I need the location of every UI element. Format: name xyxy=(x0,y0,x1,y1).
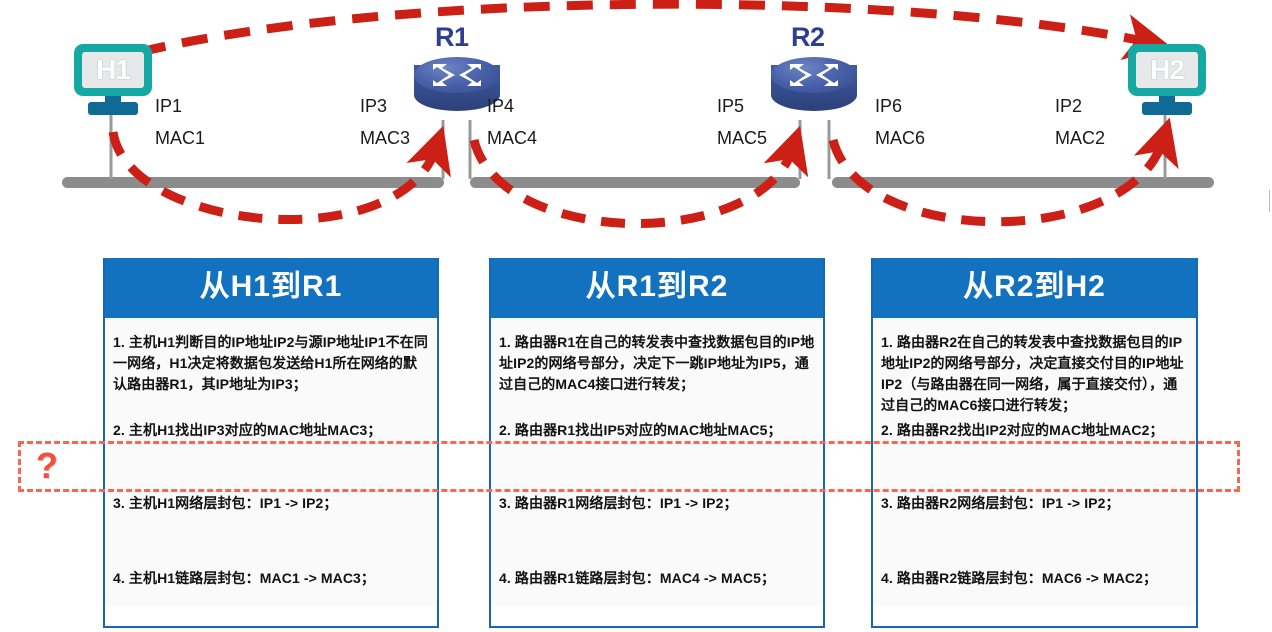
column-title: 从H1到R1 xyxy=(105,258,437,318)
column-body: 1. 路由器R1在自己的转发表中查找数据包目的IP地址IP2的网络号部分，决定下… xyxy=(491,318,823,606)
step-item: 3. 主机H1网络层封包：IP1 -> IP2； xyxy=(105,493,437,514)
step-item: 1. 路由器R2在自己的转发表中查找数据包目的IP地址IP2的网络号部分，决定直… xyxy=(873,332,1196,416)
step-item: 4. 主机H1链路层封包：MAC1 -> MAC3； xyxy=(105,568,437,589)
step-item: 2. 主机H1找出IP3对应的MAC地址MAC3； xyxy=(105,420,437,441)
right-edge-rule xyxy=(1269,190,1270,212)
column-title: 从R2到H2 xyxy=(873,258,1196,318)
explanation-columns: 从H1到R1 1. 主机H1判断目的IP地址IP2与源IP地址IP1不在同一网络… xyxy=(0,0,1272,632)
column-h1-to-r1: 从H1到R1 1. 主机H1判断目的IP地址IP2与源IP地址IP1不在同一网络… xyxy=(103,258,439,628)
diagram-root: H1 R1 R2 xyxy=(0,0,1272,632)
step-item: 3. 路由器R1网络层封包：IP1 -> IP2； xyxy=(491,493,823,514)
step-item: 1. 路由器R1在自己的转发表中查找数据包目的IP地址IP2的网络号部分，决定下… xyxy=(491,332,823,395)
column-r2-to-h2: 从R2到H2 1. 路由器R2在自己的转发表中查找数据包目的IP地址IP2的网络… xyxy=(871,258,1198,628)
column-body: 1. 主机H1判断目的IP地址IP2与源IP地址IP1不在同一网络，H1决定将数… xyxy=(105,318,437,606)
step-item: 2. 路由器R1找出IP5对应的MAC地址MAC5； xyxy=(491,420,823,441)
step-item: 4. 路由器R2链路层封包：MAC6 -> MAC2； xyxy=(873,568,1196,589)
column-title: 从R1到R2 xyxy=(491,258,823,318)
column-body: 1. 路由器R2在自己的转发表中查找数据包目的IP地址IP2的网络号部分，决定直… xyxy=(873,318,1196,606)
question-mark-icon: ? xyxy=(36,448,58,484)
step-item: 2. 路由器R2找出IP2对应的MAC地址MAC2； xyxy=(873,420,1196,441)
step-item: 3. 路由器R2网络层封包：IP1 -> IP2； xyxy=(873,493,1196,514)
step-item: 1. 主机H1判断目的IP地址IP2与源IP地址IP1不在同一网络，H1决定将数… xyxy=(105,332,437,395)
step-item: 4. 路由器R1链路层封包：MAC4 -> MAC5； xyxy=(491,568,823,589)
column-r1-to-r2: 从R1到R2 1. 路由器R1在自己的转发表中查找数据包目的IP地址IP2的网络… xyxy=(489,258,825,628)
